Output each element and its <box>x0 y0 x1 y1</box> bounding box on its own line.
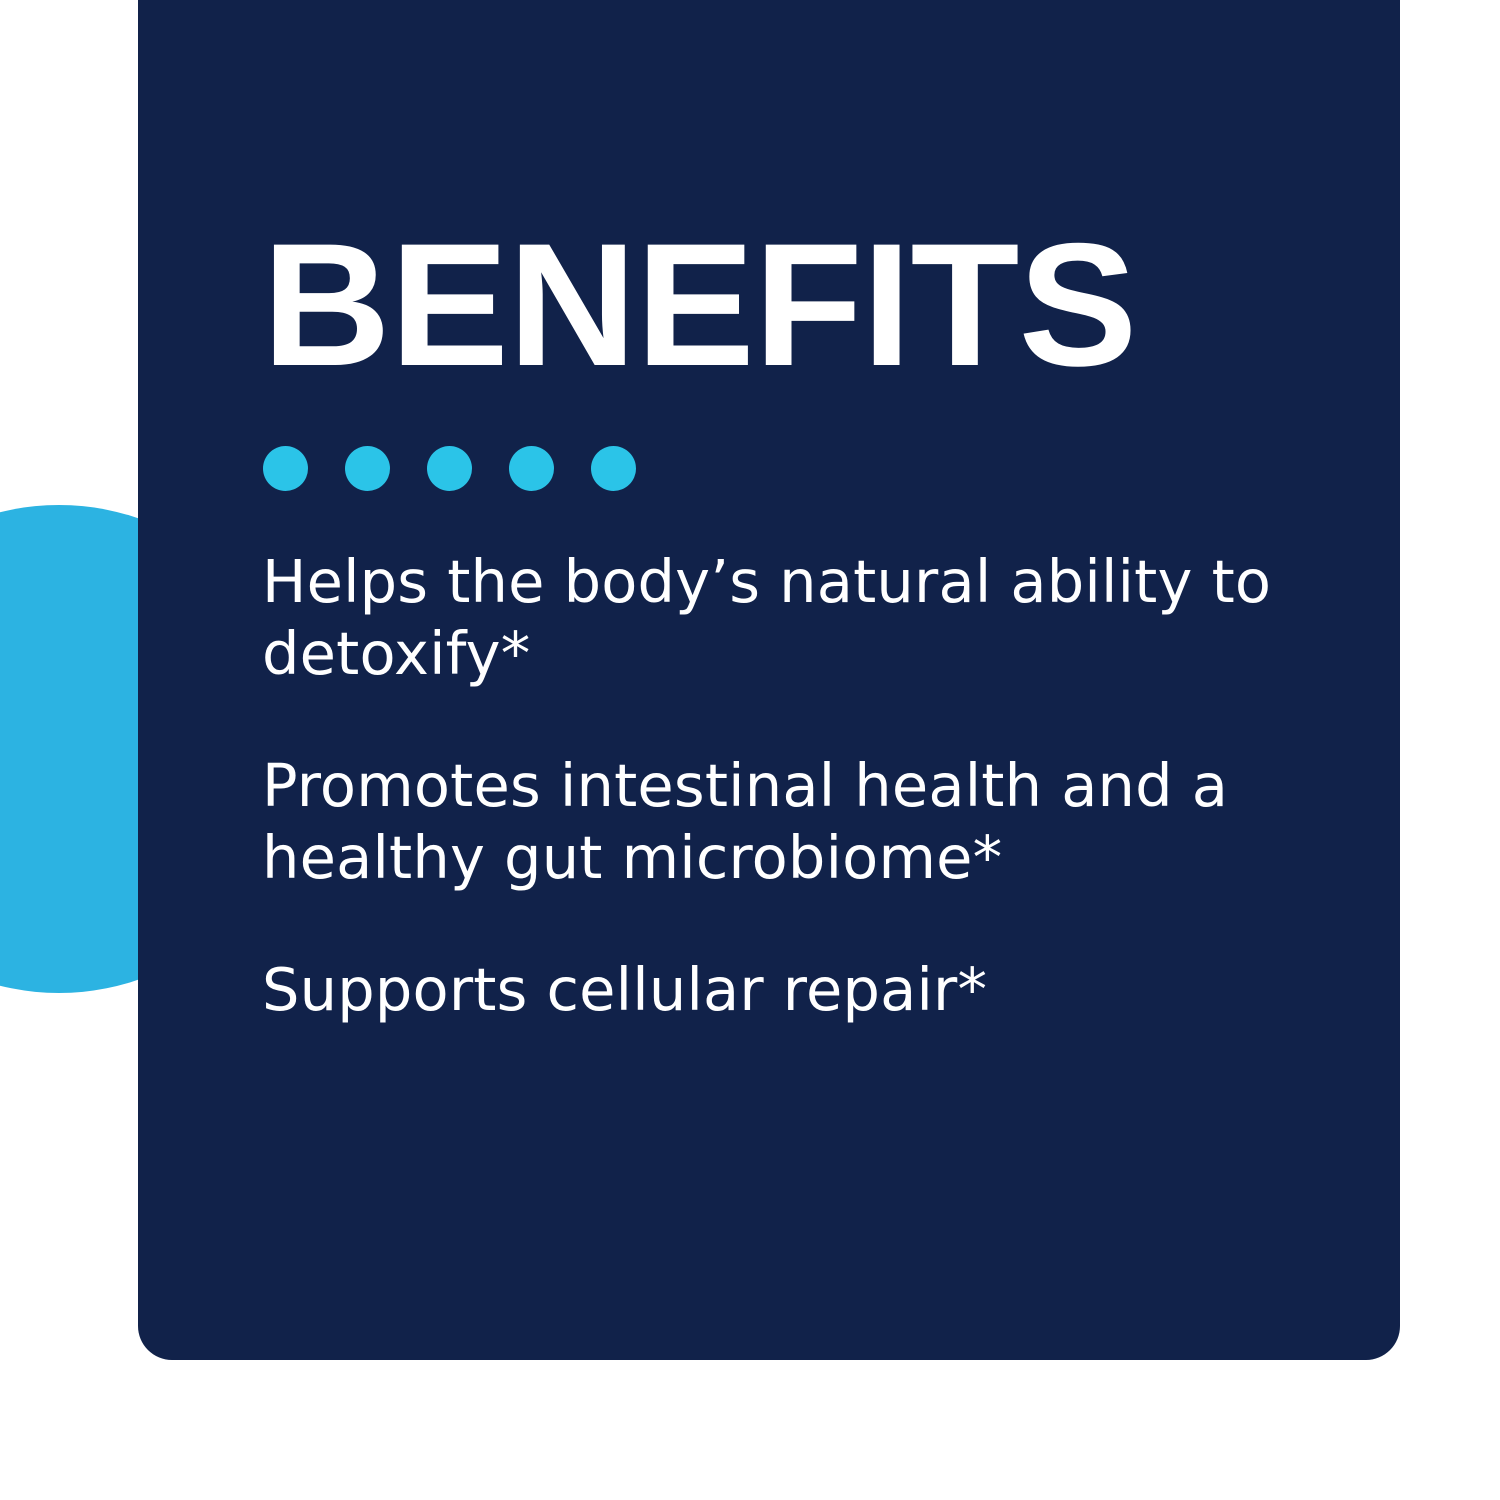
benefits-card: BENEFITS Helps the body’s natural abilit… <box>138 0 1400 1360</box>
benefits-panel: BENEFITS Helps the body’s natural abilit… <box>0 0 1500 1500</box>
separator-dot-icon <box>591 446 636 491</box>
benefits-list: Helps the body’s natural ability to deto… <box>262 546 1337 1026</box>
dot-separator <box>263 446 636 491</box>
page-title: BENEFITS <box>262 218 1137 393</box>
list-item: Supports cellular repair* <box>262 954 1337 1026</box>
card-content: BENEFITS Helps the body’s natural abilit… <box>262 0 1320 1360</box>
separator-dot-icon <box>427 446 472 491</box>
separator-dot-icon <box>263 446 308 491</box>
list-item: Promotes intestinal health and a healthy… <box>262 750 1337 894</box>
list-item: Helps the body’s natural ability to deto… <box>262 546 1337 690</box>
separator-dot-icon <box>345 446 390 491</box>
separator-dot-icon <box>509 446 554 491</box>
